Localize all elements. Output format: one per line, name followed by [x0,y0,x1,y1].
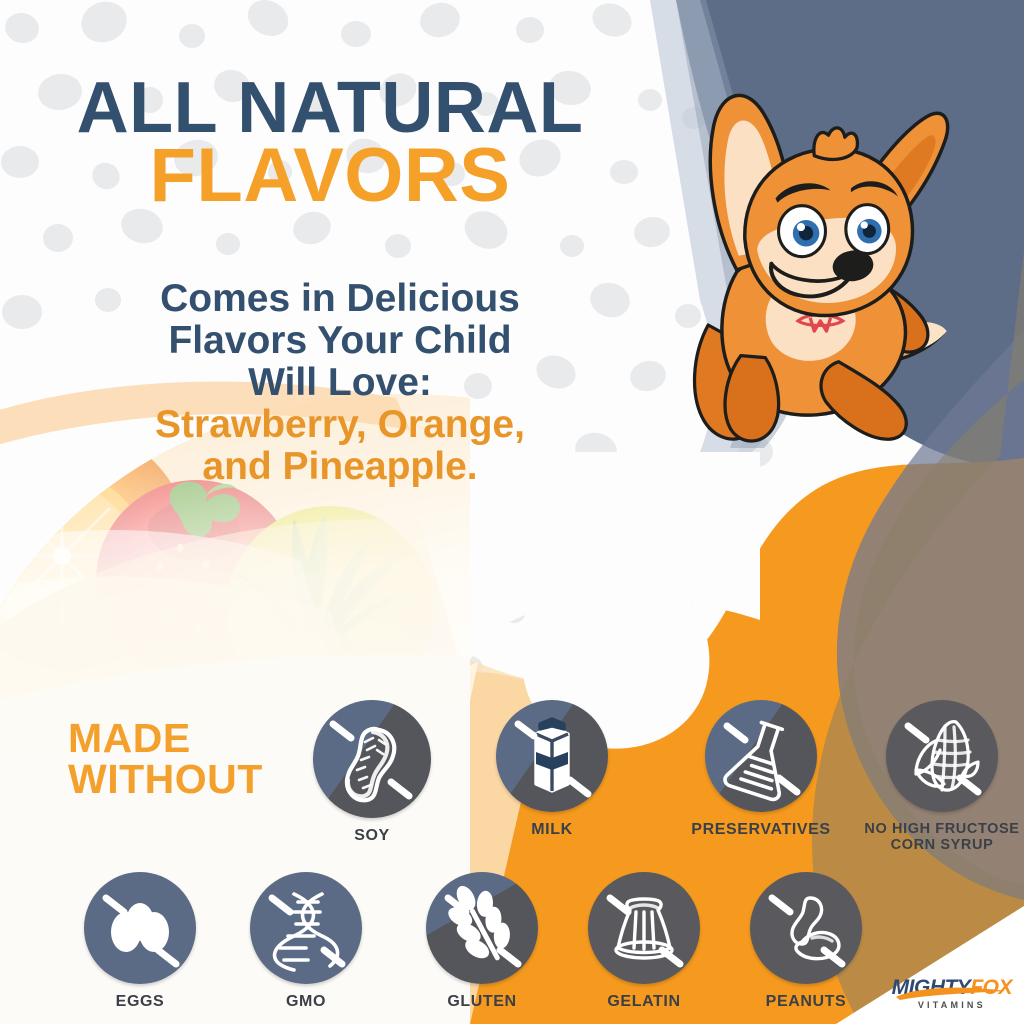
badge-label: PRESERVATIVES [691,821,830,839]
badge-label: MILK [531,821,573,839]
badge-label: SOY [354,827,390,845]
corn-icon [886,700,998,812]
peanut-icon [313,700,431,818]
badge-gmo: GMO [248,872,364,1011]
badge-label: GELATIN [607,993,680,1011]
flavors-line1: Strawberry, Orange, [60,404,620,446]
milk-carton-icon [496,700,608,812]
eggs-icon [84,872,196,984]
subhead-line3: Will Love: [60,362,620,404]
badge-eggs: EGGS [82,872,198,1011]
badge-hfcs: NO HIGH FRUCTOSE CORN SYRUP [862,700,1022,853]
headline-line2: FLAVORS [0,138,660,214]
peanuts-icon [750,872,862,984]
brand-logo: MIGHTYFOX VITAMINS [892,977,1012,1010]
logo-wordmark: MIGHTYFOX [892,977,1012,998]
dna-icon [250,872,362,984]
logo-mighty: MIGHTY [892,976,971,999]
subhead-line2: Flavors Your Child [60,320,620,362]
subheadline: Comes in Delicious Flavors Your Child Wi… [60,278,620,489]
poster-canvas: ALL NATURAL FLAVORS Comes in Delicious F… [0,0,1024,1024]
made-without-line1: MADE [68,718,263,759]
badge-label: NO HIGH FRUCTOSE CORN SYRUP [864,821,1019,853]
made-without-line2: WITHOUT [68,759,263,800]
badge-label: GLUTEN [447,993,516,1011]
badge-peanuts: PEANUTS [748,872,864,1011]
badge-label: EGGS [116,993,165,1011]
subhead-line1: Comes in Delicious [60,278,620,320]
flask-icon [705,700,817,812]
made-without-heading: MADE WITHOUT [68,718,263,800]
jelly-icon [588,872,700,984]
wheat-icon [426,872,538,984]
badge-milk: MILK [493,700,611,839]
flavors-line2: and Pineapple. [60,446,620,488]
badge-gelatin: GELATIN [586,872,702,1011]
badge-label: GMO [286,993,326,1011]
headline: ALL NATURAL FLAVORS [0,72,660,214]
badge-gluten: GLUTEN [424,872,540,1011]
logo-tagline: VITAMINS [892,1000,1012,1010]
badge-label: PEANUTS [766,993,847,1011]
badge-preservatives: PRESERVATIVES [676,700,846,839]
badge-soy: SOY [310,700,434,845]
logo-fox: FOX [970,976,1012,999]
